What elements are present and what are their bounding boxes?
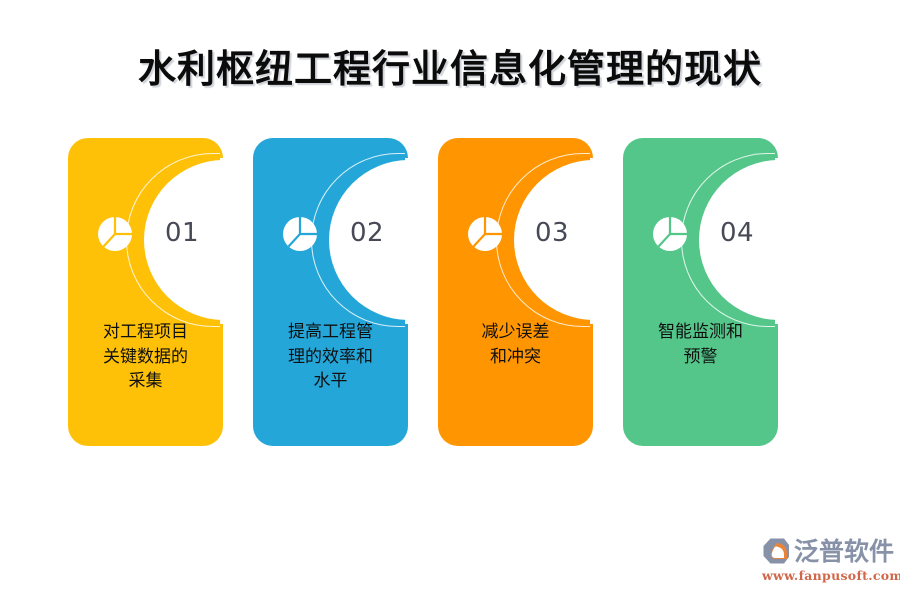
card-number: 01 (151, 220, 213, 246)
logo-brand-text: 泛普软件 (794, 539, 894, 564)
hexagon-swoosh-logo-icon (762, 537, 790, 565)
pie-chart-icon (650, 214, 690, 254)
info-card-4[interactable]: 04 智能监测和 预警 (623, 138, 778, 446)
card-number: 04 (706, 220, 768, 246)
card-text: 提高工程管 理的效率和 水平 (259, 320, 402, 394)
card-number: 03 (521, 220, 583, 246)
info-card-1[interactable]: 01 对工程项目 关键数据的 采集 (68, 138, 223, 446)
edge-sliver-decoration (590, 158, 593, 324)
pie-chart-icon (95, 214, 135, 254)
edge-sliver-decoration (775, 158, 778, 324)
card-text: 减少误差 和冲突 (444, 320, 587, 369)
page-title: 水利枢纽工程行业信息化管理的现状 (0, 38, 900, 93)
pie-chart-icon (465, 214, 505, 254)
card-row: 01 对工程项目 关键数据的 采集 02 提高工程管 理的效率和 水平 (68, 138, 832, 446)
info-card-2[interactable]: 02 提高工程管 理的效率和 水平 (253, 138, 408, 446)
card-number: 02 (336, 220, 398, 246)
edge-sliver-decoration (220, 158, 223, 324)
card-text: 智能监测和 预警 (629, 320, 772, 369)
logo-url-text: www.fanpusoft.com (762, 568, 892, 583)
info-card-3[interactable]: 03 减少误差 和冲突 (438, 138, 593, 446)
logo-row: 泛普软件 (762, 536, 892, 566)
brand-logo[interactable]: 泛普软件 www.fanpusoft.com (762, 536, 892, 588)
pie-chart-icon (280, 214, 320, 254)
card-text: 对工程项目 关键数据的 采集 (74, 320, 217, 394)
edge-sliver-decoration (405, 158, 408, 324)
slide-canvas: 水利枢纽工程行业信息化管理的现状 01 对工程项目 关键数据的 采集 (0, 0, 900, 600)
